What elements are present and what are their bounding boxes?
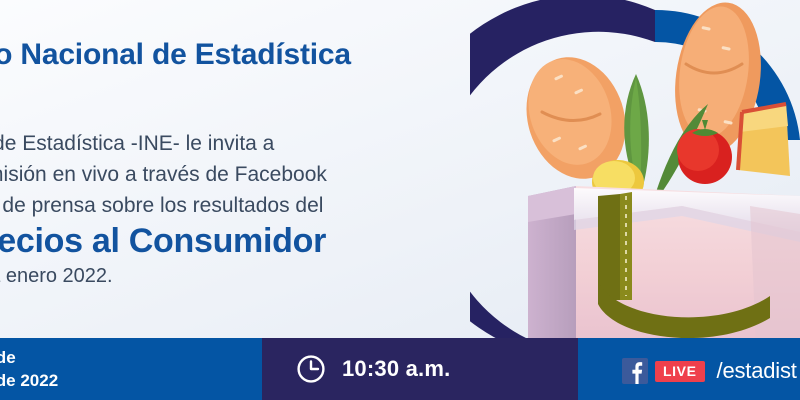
invitation-line-2: en la transmisión en vivo a través de Fa…	[0, 159, 548, 190]
facebook-icon	[622, 358, 648, 384]
cheese-wedge	[738, 104, 790, 176]
live-badge: LIVE	[655, 361, 705, 382]
invitation-line-3: conferencia de prensa sobre los resultad…	[0, 190, 548, 221]
paper-bag	[528, 186, 800, 345]
event-date: es 7 de rero de 2022	[0, 347, 258, 393]
invitation-paragraph: o Nacional de Estadística -INE- le invit…	[0, 128, 548, 221]
event-announcement-banner: stituto Nacional de Estadística o Nacion…	[0, 0, 800, 400]
event-time-text: 10:30 a.m.	[342, 356, 450, 382]
clock-icon	[296, 354, 326, 384]
facebook-handle: /estadist	[717, 358, 797, 384]
facebook-live-link[interactable]: LIVE /estadist	[622, 358, 797, 384]
event-date-line-2: rero de 2022	[0, 370, 258, 393]
invitation-line-1: o Nacional de Estadística -INE- le invit…	[0, 128, 548, 159]
page-title: stituto Nacional de Estadística	[0, 38, 542, 72]
event-headline: e de Precios al Consumidor	[0, 222, 586, 261]
event-subline: ndientes a enero 2022.	[0, 265, 528, 288]
event-time-panel: 10:30 a.m.	[262, 338, 578, 400]
event-date-line-1: es 7 de	[0, 347, 258, 370]
